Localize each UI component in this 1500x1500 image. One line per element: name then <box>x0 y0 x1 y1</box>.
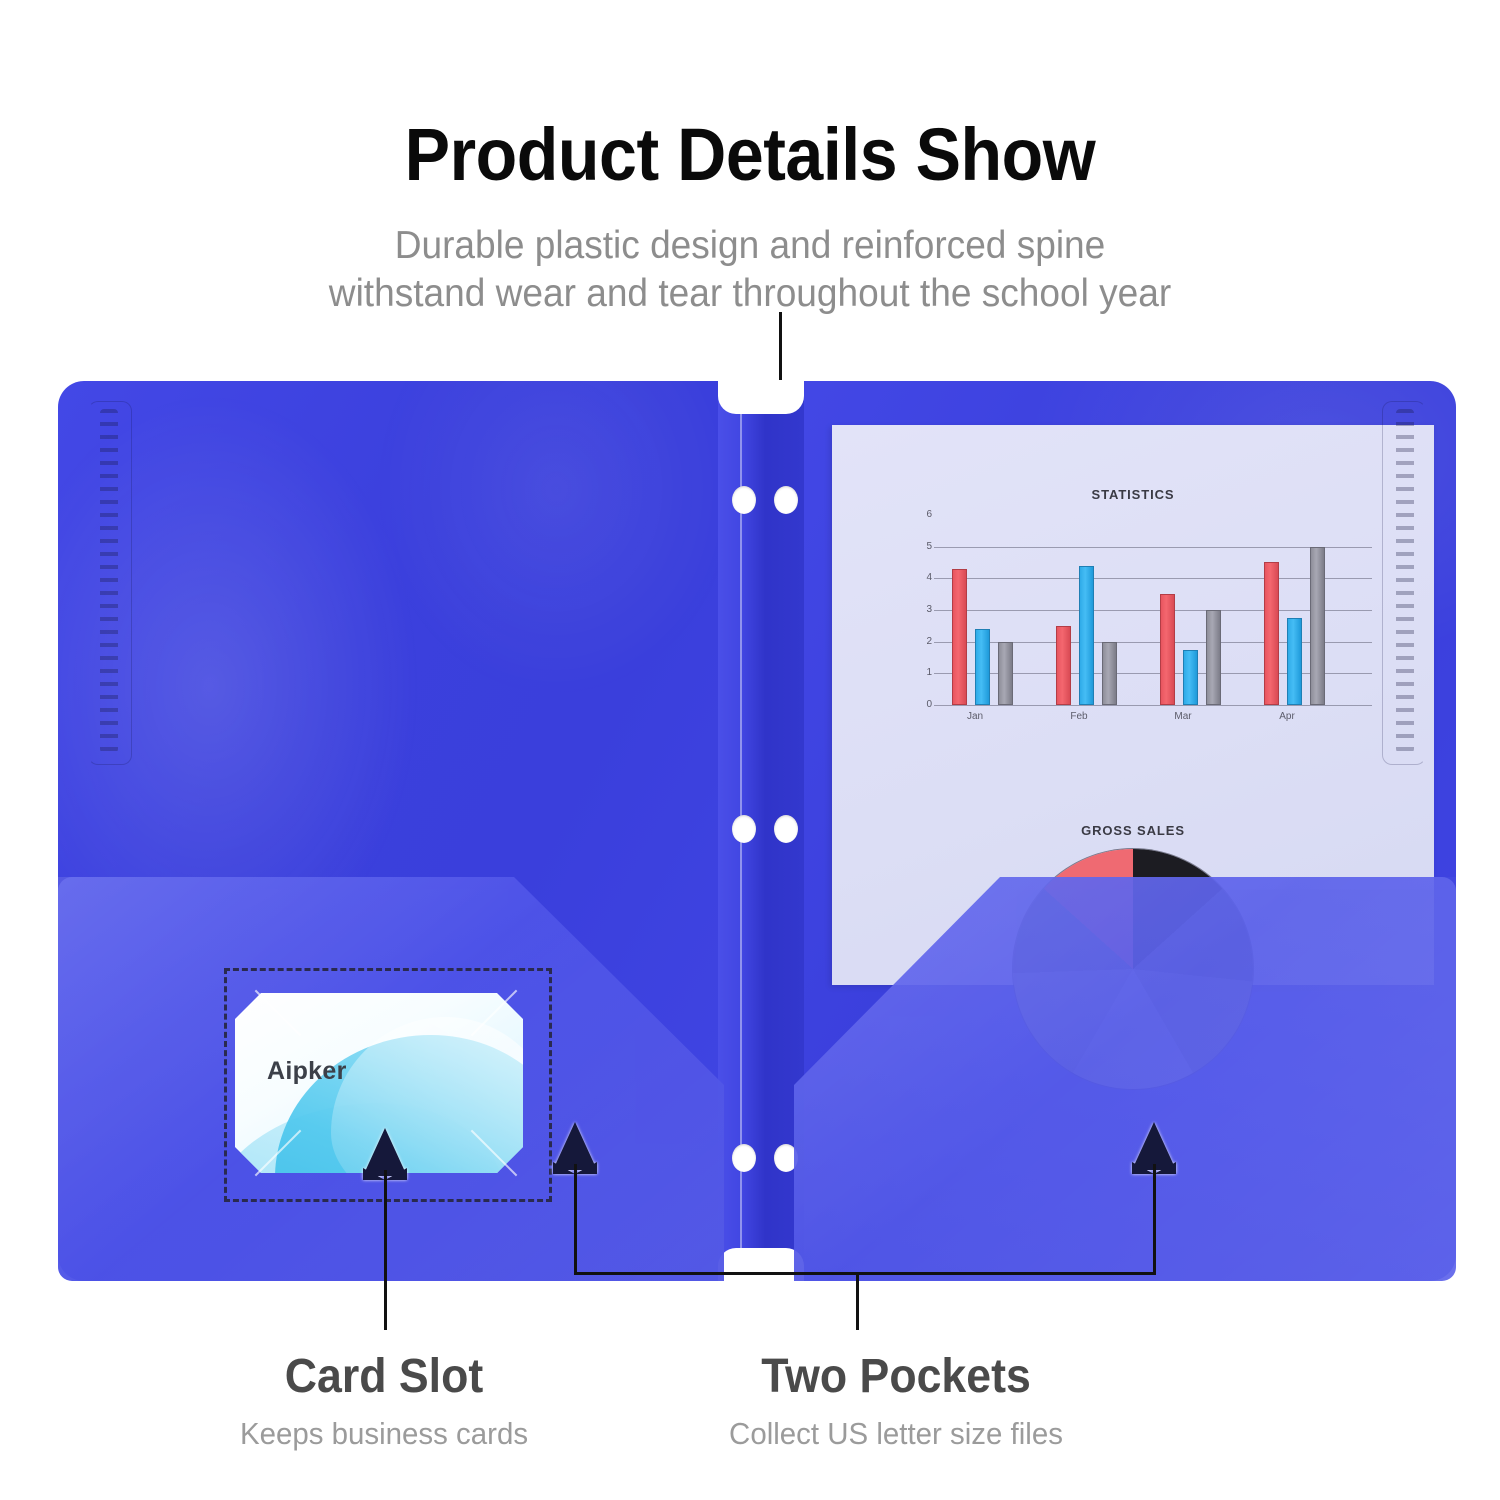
y-tick-0: 0 <box>916 699 932 710</box>
punch-hole-middle-left <box>732 815 756 843</box>
card-slot-callout-line <box>384 1170 387 1330</box>
product-detail-image: Product Details Show Durable plastic des… <box>0 0 1500 1500</box>
x-label-jan: Jan <box>945 711 1005 722</box>
two-pockets-callout-bridge <box>574 1272 1156 1275</box>
feature-two-pockets: Two Pockets Collect US letter size files <box>700 1352 1092 1452</box>
left-pocket-callout-line <box>574 1164 577 1274</box>
bar-feb-gray <box>1102 642 1117 705</box>
right-pocket-rib-texture <box>1396 409 1414 753</box>
punch-hole-middle-right <box>774 815 798 843</box>
page-subtitle-line-2: withstand wear and tear throughout the s… <box>247 270 1254 318</box>
card-slot-callout-arrow-icon <box>363 1128 407 1176</box>
feature-two-pockets-title: Two Pockets <box>714 1352 1079 1402</box>
spine-notch-top <box>718 380 804 414</box>
punch-hole-top-left <box>732 486 756 514</box>
spine-notch-bottom <box>718 1248 804 1282</box>
bar-chart-title: STATISTICS <box>832 487 1434 502</box>
left-pocket-callout-arrow-icon <box>553 1122 597 1170</box>
bar-jan-blue <box>975 629 990 705</box>
punch-hole-bottom-left <box>732 1144 756 1172</box>
y-tick-5: 5 <box>916 541 932 552</box>
feature-card-slot-title: Card Slot <box>239 1352 529 1402</box>
y-tick-3: 3 <box>916 604 932 615</box>
bar-jan-red <box>952 569 967 705</box>
x-label-mar: Mar <box>1153 711 1213 722</box>
feature-card-slot-subtitle: Keeps business cards <box>236 1416 532 1452</box>
page-title: Product Details Show <box>60 118 1440 192</box>
punch-hole-top-right <box>774 486 798 514</box>
bar-mar-gray <box>1206 610 1221 705</box>
feature-card-slot: Card Slot Keeps business cards <box>228 1352 540 1452</box>
bar-apr-red <box>1264 562 1279 705</box>
right-pocket-callout-arrow-icon <box>1132 1122 1176 1170</box>
x-label-apr: Apr <box>1257 711 1317 722</box>
pie-chart-title: GROSS SALES <box>832 823 1434 838</box>
feature-two-pockets-subtitle: Collect US letter size files <box>710 1416 1082 1452</box>
bar-apr-blue <box>1287 618 1302 705</box>
two-pockets-callout-stem <box>856 1272 859 1330</box>
bar-mar-red <box>1160 594 1175 705</box>
y-tick-1: 1 <box>916 667 932 678</box>
card-brand-name: Aipker <box>267 1057 347 1086</box>
y-tick-6: 6 <box>916 509 932 520</box>
right-pocket-callout-line <box>1153 1164 1156 1274</box>
bar-feb-blue <box>1079 566 1094 705</box>
bar-apr-gray <box>1310 547 1325 705</box>
card-highlight-shape <box>331 1017 523 1173</box>
y-tick-4: 4 <box>916 572 932 583</box>
bar-chart: 0 1 2 3 4 5 6 <box>918 515 1372 705</box>
x-label-feb: Feb <box>1049 711 1109 722</box>
y-tick-2: 2 <box>916 636 932 647</box>
left-pocket-rib-texture <box>100 409 118 753</box>
bar-mar-blue <box>1183 650 1198 705</box>
bar-jan-gray <box>998 642 1013 705</box>
page-subtitle-line-1: Durable plastic design and reinforced sp… <box>247 222 1254 270</box>
bar-feb-red <box>1056 626 1071 705</box>
page-subtitle: Durable plastic design and reinforced sp… <box>247 222 1254 317</box>
